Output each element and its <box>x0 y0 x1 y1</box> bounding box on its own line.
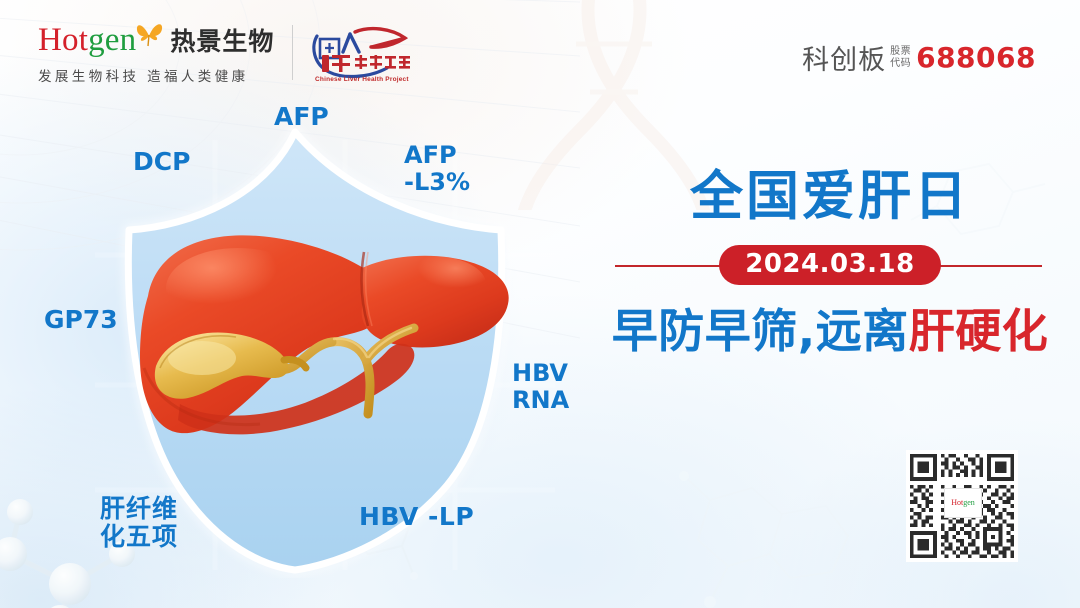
qr-center-logo-text: Hotgen <box>951 499 975 507</box>
marker-label-hbv-rna-line2: RNA <box>512 387 569 414</box>
marker-label-liver-fibrosis-line1: 肝纤维 <box>100 495 178 523</box>
campaign-title: 全国爱肝日 <box>600 170 1060 223</box>
date-rule-right <box>925 265 1042 267</box>
marker-label-afp-l3-line1: AFP <box>404 142 470 169</box>
stock-code-label-line1: 股票 <box>890 46 911 58</box>
qr-center-logo: Hotgen <box>944 488 982 518</box>
stock-code-value: 688068 <box>916 41 1036 74</box>
liver-illustration <box>120 218 520 463</box>
stock-board-label: 科创板 <box>802 38 886 77</box>
molecule-icon <box>640 470 870 608</box>
brand-name-cn: 热景生物 <box>170 22 274 58</box>
qr-logo-part1: Hot <box>951 498 963 507</box>
campaign-slogan-blue: 早防早筛,远离 <box>612 304 909 358</box>
campaign-slogan: 早防早筛,远离肝硬化 <box>600 307 1060 357</box>
hotgen-wordmark-part2: gen <box>88 22 136 58</box>
brand-tagline: 发展生物科技 造福人类健康 <box>38 65 274 85</box>
butterfly-icon <box>134 20 164 48</box>
qr-logo-part2: gen <box>963 498 975 507</box>
stock-info: 科创板 股票 代码 688068 <box>802 38 1036 77</box>
brand-logo-group: Hotgen 热景生物 发展生物科技 造福人类健康 <box>38 22 414 85</box>
marker-label-afp-l3-line2: -L3% <box>404 169 470 196</box>
campaign-slogan-red: 肝硬化 <box>909 304 1049 358</box>
poster-header: Hotgen 热景生物 发展生物科技 造福人类健康 <box>0 0 1080 100</box>
chinese-liver-health-project-logo: Chinese Liver Health Project <box>309 22 414 82</box>
hotgen-logo: Hotgen 热景生物 发展生物科技 造福人类健康 <box>38 22 274 85</box>
marker-label-gp73: GP73 <box>44 306 118 334</box>
marker-label-hbv-lp: HBV -LP <box>359 503 474 531</box>
poster-canvas: Hotgen 热景生物 发展生物科技 造福人类健康 <box>0 0 1080 608</box>
stock-code-label: 股票 代码 <box>890 46 911 70</box>
date-rule-left <box>615 265 735 267</box>
stock-code-label-line2: 代码 <box>890 58 911 70</box>
campaign-date-row: 2024.03.18 <box>600 245 1060 285</box>
wechat-qr-code[interactable]: Hotgen <box>906 450 1018 562</box>
marker-label-dcp: DCP <box>133 148 190 176</box>
marker-label-liver-fibrosis: 肝纤维 化五项 <box>100 495 178 551</box>
hotgen-wordmark: Hotgen <box>38 24 136 57</box>
marker-label-liver-fibrosis-line2: 化五项 <box>100 523 178 551</box>
marker-label-afp-l3: AFP -L3% <box>404 142 470 196</box>
clhp-mark <box>309 22 414 82</box>
clhp-subtitle: Chinese Liver Health Project <box>309 76 414 83</box>
hotgen-wordmark-part1: Hot <box>38 22 88 58</box>
logo-divider <box>292 25 293 80</box>
marker-label-afp: AFP <box>274 103 329 131</box>
marker-label-hbv-rna-line1: HBV <box>512 360 569 387</box>
marker-label-hbv-rna: HBV RNA <box>512 360 569 414</box>
campaign-copy: 全国爱肝日 2024.03.18 早防早筛,远离肝硬化 <box>600 170 1060 357</box>
campaign-date-badge: 2024.03.18 <box>719 245 940 285</box>
